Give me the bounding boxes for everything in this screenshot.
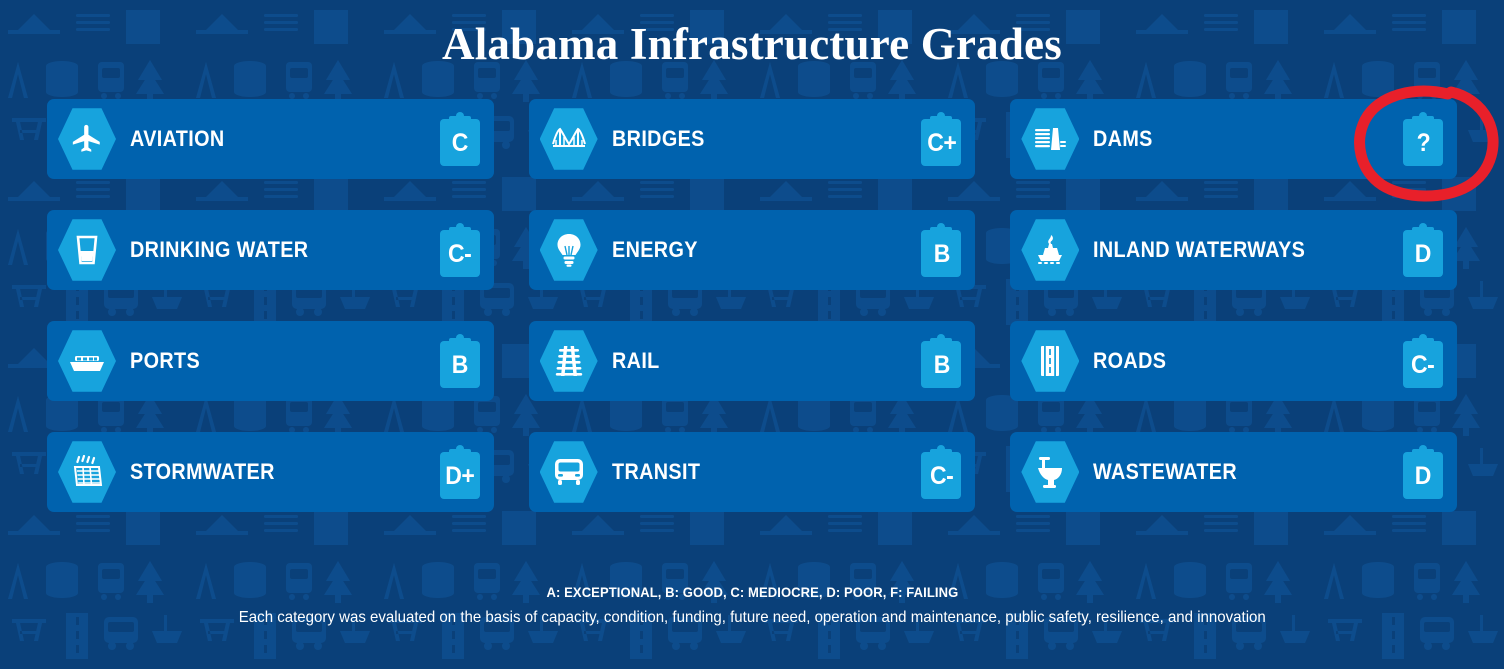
grade-card-energy[interactable]: ENERGY B [529, 210, 976, 290]
card-label: WASTEWATER [1093, 459, 1237, 485]
grade-card-wastewater[interactable]: WASTEWATER D [1010, 432, 1457, 512]
water-glass-icon [58, 218, 116, 282]
grade-value: B [933, 242, 949, 267]
grade-card-aviation[interactable]: AVIATION C [47, 99, 494, 179]
grade-card-bridges[interactable]: BRIDGES C+ [529, 99, 976, 179]
card-label: AVIATION [130, 126, 225, 152]
grade-card-roads[interactable]: ROADS C- [1010, 321, 1457, 401]
grades-grid: AVIATION C BRIDGES [47, 99, 1457, 512]
grade-value: D [1415, 464, 1431, 489]
card-label: STORMWATER [130, 459, 275, 485]
dam-icon [1021, 107, 1079, 171]
grade-value: C- [448, 242, 471, 267]
grade-card-drinking-water[interactable]: DRINKING WATER C- [47, 210, 494, 290]
grade-card-inland-waterways[interactable]: INLAND WATERWAYS D [1010, 210, 1457, 290]
grade-value: C- [1411, 353, 1434, 378]
grade-badge[interactable]: C- [440, 223, 480, 277]
grade-value: C+ [927, 131, 956, 156]
grade-badge[interactable]: B [921, 223, 961, 277]
grade-value: C- [930, 464, 953, 489]
grade-card-ports[interactable]: PORTS B [47, 321, 494, 401]
grade-badge[interactable]: C- [921, 445, 961, 499]
grade-card-rail[interactable]: RAIL B [529, 321, 976, 401]
grade-card-transit[interactable]: TRANSIT C- [529, 432, 976, 512]
card-label: RAIL [612, 348, 660, 374]
card-label: ROADS [1093, 348, 1166, 374]
railroad-track-icon [540, 329, 598, 393]
card-label: BRIDGES [612, 126, 705, 152]
grade-badge[interactable]: ? [1403, 112, 1443, 166]
grade-badge[interactable]: D [1403, 223, 1443, 277]
grade-value: B [933, 353, 949, 378]
card-label: ENERGY [612, 237, 698, 263]
grade-value: B [452, 353, 468, 378]
infrastructure-report-card: Alabama Infrastructure Grades AVIATION C [0, 0, 1504, 669]
card-label: PORTS [130, 348, 200, 374]
grade-value: ? [1416, 131, 1430, 156]
grade-badge[interactable]: B [921, 334, 961, 388]
storm-drain-icon [58, 440, 116, 504]
airplane-icon [58, 107, 116, 171]
criteria-row: Each category was evaluated on the basis… [0, 602, 1504, 627]
page-title: Alabama Infrastructure Grades [0, 18, 1504, 70]
card-label: TRANSIT [612, 459, 700, 485]
grade-card-stormwater[interactable]: STORMWATER D+ [47, 432, 494, 512]
tugboat-icon [1021, 218, 1079, 282]
grade-badge[interactable]: C- [1403, 334, 1443, 388]
grade-card-dams[interactable]: DAMS ? [1010, 99, 1457, 179]
grade-badge[interactable]: B [440, 334, 480, 388]
suspension-bridge-icon [540, 107, 598, 171]
toilet-icon [1021, 440, 1079, 504]
evaluation-criteria: Each category was evaluated on the basis… [238, 609, 1265, 627]
cargo-ship-icon [58, 329, 116, 393]
grade-value: D+ [445, 464, 474, 489]
grade-badge[interactable]: D+ [440, 445, 480, 499]
card-label: INLAND WATERWAYS [1093, 237, 1305, 263]
card-label: DRINKING WATER [130, 237, 308, 263]
card-label: DAMS [1093, 126, 1153, 152]
grade-legend-row: A: EXCEPTIONAL, B: GOOD, C: MEDIOCRE, D:… [0, 584, 1504, 602]
grade-value: D [1415, 242, 1431, 267]
footer: A: EXCEPTIONAL, B: GOOD, C: MEDIOCRE, D:… [0, 584, 1504, 627]
grade-value: C [452, 131, 468, 156]
grade-legend: A: EXCEPTIONAL, B: GOOD, C: MEDIOCRE, D:… [546, 584, 958, 600]
grade-badge[interactable]: C+ [921, 112, 961, 166]
road-icon [1021, 329, 1079, 393]
lightbulb-icon [540, 218, 598, 282]
grade-badge[interactable]: D [1403, 445, 1443, 499]
bus-icon [540, 440, 598, 504]
grade-badge[interactable]: C [440, 112, 480, 166]
